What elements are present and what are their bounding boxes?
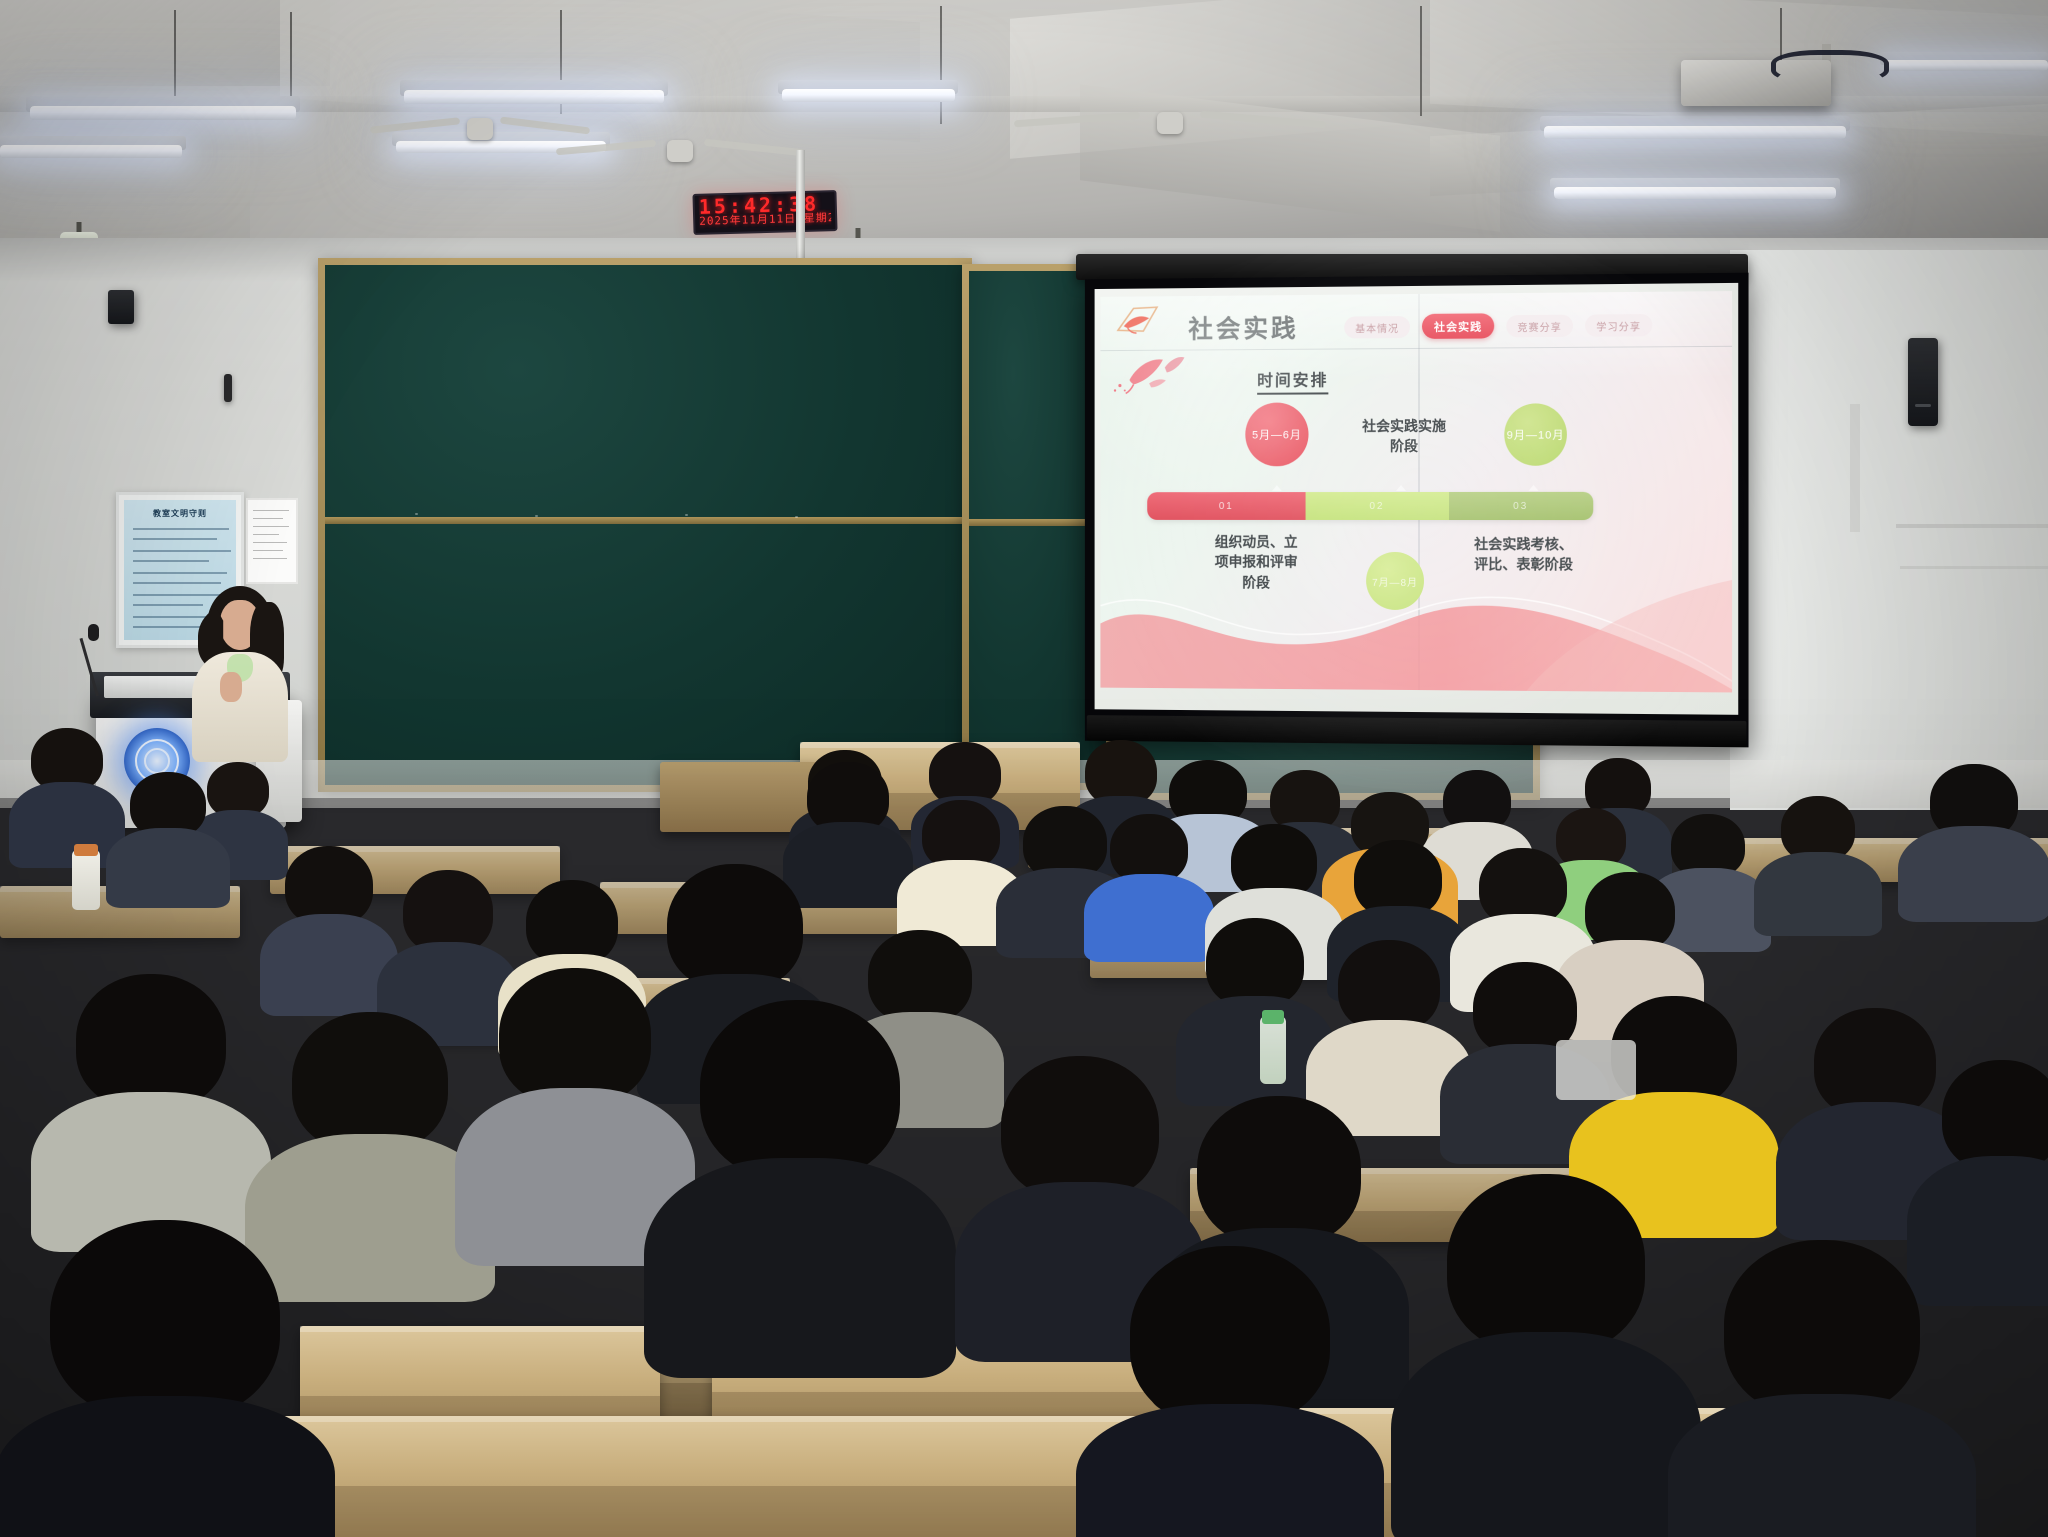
ceiling-light xyxy=(1554,187,1836,199)
wall-conduit xyxy=(1850,404,1860,532)
ceiling-light xyxy=(1544,126,1846,139)
led-clock-display: 15:42:38 2025年11月11日 星期2 xyxy=(692,190,837,235)
water-bottle xyxy=(72,850,100,910)
timeline-node-0: 5月—6月 xyxy=(1245,402,1308,466)
slide-tab-2[interactable]: 竞赛分享 xyxy=(1506,315,1573,338)
wall-conduit xyxy=(1896,524,2048,528)
clock-date: 2025年11月11日 星期2 xyxy=(699,209,831,229)
plastic-bag xyxy=(1556,1040,1636,1100)
timeline-bar: 01 02 03 xyxy=(1147,492,1593,520)
light-hanger xyxy=(174,10,176,106)
presenter xyxy=(180,580,300,750)
ceiling-fan xyxy=(590,140,770,172)
audience-member xyxy=(1900,764,2048,904)
podium-microphone-icon xyxy=(88,624,99,641)
audience-member xyxy=(1672,1240,1972,1537)
slide-section-heading: 时间安排 xyxy=(1257,367,1328,395)
crane-illustration-icon xyxy=(1110,350,1194,396)
audience-member xyxy=(1396,1174,1696,1514)
presentation-slide: 社会实践 基本情况 社会实践 竞赛分享 学习分享 时间安排 5月—6月 9月—1… xyxy=(1100,291,1732,692)
timeline-segment-0: 01 xyxy=(1147,492,1306,520)
light-hanger xyxy=(940,6,942,124)
audience-member xyxy=(108,772,228,892)
timeline-segment-2: 03 xyxy=(1449,492,1594,520)
wall-speaker-icon xyxy=(1908,338,1938,426)
blackboard-left xyxy=(318,258,972,792)
timeline-segment-1: 02 xyxy=(1306,492,1449,520)
wall-conduit xyxy=(1900,566,2048,569)
audience-member xyxy=(12,728,122,858)
ceiling-light xyxy=(30,106,296,120)
timeline-middle-label: 社会实践实施阶段 xyxy=(1334,416,1474,457)
ceiling-fan xyxy=(1060,112,1280,146)
audience-member xyxy=(0,1220,330,1537)
ceiling-light xyxy=(0,145,182,158)
slide-title: 社会实践 xyxy=(1188,309,1298,346)
poster-title: 教室文明守则 xyxy=(124,508,236,519)
wall-sensor-icon xyxy=(108,290,134,324)
ceiling-beam xyxy=(0,150,250,250)
timeline-node-1: 7月—8月 xyxy=(1366,552,1424,610)
timeline-node-2: 9月—10月 xyxy=(1504,403,1567,466)
ceiling-light xyxy=(782,89,955,102)
audience-member xyxy=(264,846,394,996)
lecture-hall-photo: 15:42:38 2025年11月11日 星期2 教室文明守则 xyxy=(0,0,2048,1537)
ceiling-fan xyxy=(400,118,560,148)
bottle-cap xyxy=(74,844,98,856)
timeline-caption-0: 组织动员、立项申报和评审阶段 xyxy=(1182,532,1330,593)
bottle-cap xyxy=(1262,1010,1284,1024)
bird-illustration-icon xyxy=(1114,304,1190,338)
poster-secondary xyxy=(246,498,298,584)
audience-member xyxy=(1080,1246,1380,1537)
audience-member xyxy=(36,974,266,1224)
audience-member-center xyxy=(650,1000,950,1340)
ceiling-light xyxy=(404,90,664,104)
water-bottle xyxy=(1260,1016,1286,1084)
slide-tab-0[interactable]: 基本情况 xyxy=(1344,316,1410,338)
right-wall xyxy=(1730,250,2048,810)
slide-tab-3[interactable]: 学习分享 xyxy=(1585,314,1652,337)
projection-screen-frame: 社会实践 基本情况 社会实践 竞赛分享 学习分享 时间安排 5月—6月 9月—1… xyxy=(1085,273,1749,748)
ceiling-light xyxy=(1884,60,2048,71)
light-hanger xyxy=(1420,6,1422,116)
audience-member xyxy=(1758,796,1878,922)
timeline-caption-1: 社会实践考核、评比、表彰阶段 xyxy=(1474,534,1656,575)
ceiling-projector xyxy=(1756,44,1906,114)
wall-microphone-icon xyxy=(224,374,232,402)
slide-tab-1-active[interactable]: 社会实践 xyxy=(1422,313,1494,339)
